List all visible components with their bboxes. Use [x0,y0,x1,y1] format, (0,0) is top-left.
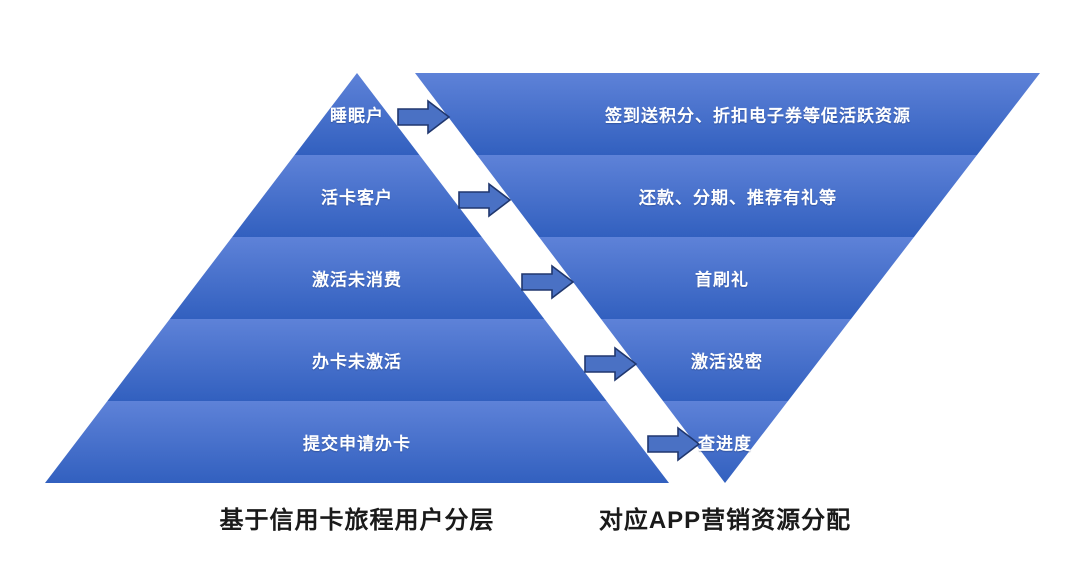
left-caption: 基于信用卡旅程用户分层 [220,500,495,535]
right-caption: 对应APP营销资源分配 [599,500,851,535]
arrow-right-2-icon [459,184,510,216]
diagram-artwork [0,0,1080,566]
diagram-canvas: 睡眠户 活卡客户 激活未消费 办卡未激活 提交申请办卡 签到送积分、折扣电子券等… [0,0,1080,566]
